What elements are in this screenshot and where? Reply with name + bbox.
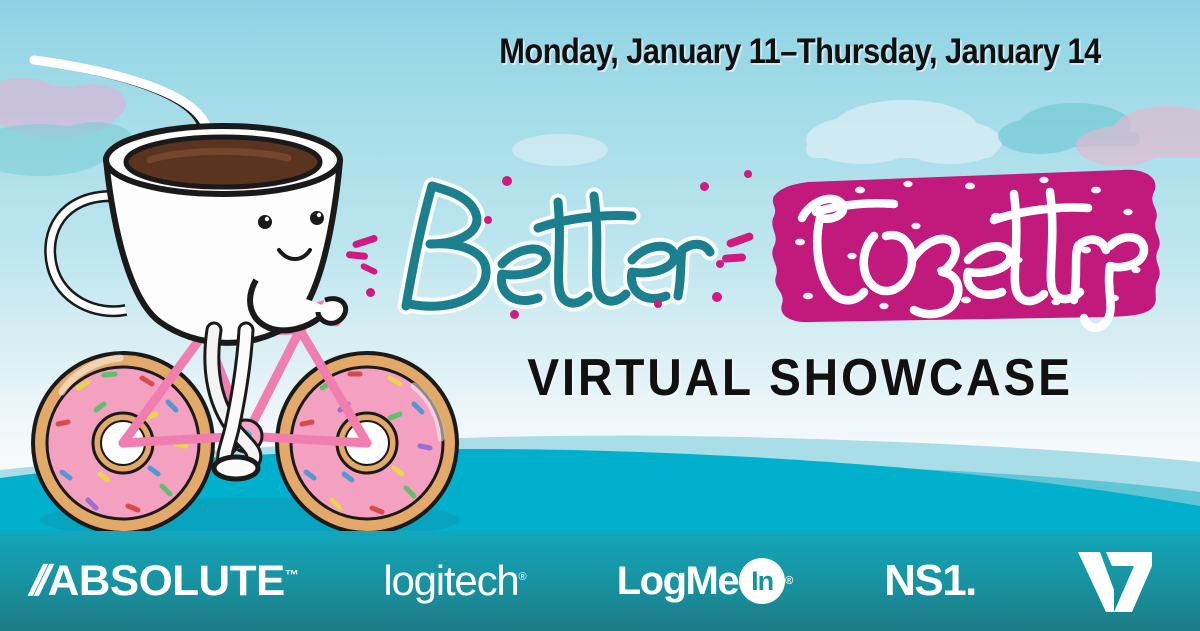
accent-dot — [366, 288, 375, 297]
registered-icon: ® — [785, 575, 793, 587]
sponsor-logo-logmein[interactable]: LogMeIn® — [580, 531, 830, 631]
accent-dot — [700, 182, 709, 191]
accent-dash — [722, 253, 746, 263]
absolute-slash-mark: // — [24, 557, 50, 606]
sponsor-logo-ns1[interactable]: NS1. — [830, 531, 1030, 631]
logmein-in-badge: In — [739, 558, 785, 604]
accent-dot — [744, 170, 752, 178]
subtitle-virtual-showcase: VIRTUAL SHOWCASE — [460, 348, 1141, 408]
registered-icon: ® — [519, 571, 527, 583]
sponsor-logo-bar: //ABSOLUTE™ logitech® LogMeIn® NS1. V7 — [0, 531, 1200, 631]
ns1-wordmark: NS1. — [884, 556, 976, 606]
accent-dash — [346, 251, 369, 260]
logitech-wordmark: logitech — [383, 557, 518, 604]
event-promo-banner: Monday, January 11–Thursday, January 14 … — [0, 0, 1200, 631]
accent-dash — [725, 231, 754, 248]
sponsor-logo-absolute[interactable]: //ABSOLUTE™ — [0, 531, 330, 631]
logmein-wordmark: LogMe — [617, 559, 738, 604]
absolute-wordmark: ABSOLUTE — [47, 557, 284, 605]
accent-dot — [484, 216, 492, 224]
trademark-icon: ™ — [285, 566, 299, 582]
accent-dash — [352, 234, 379, 249]
accent-dot — [654, 300, 662, 308]
headline-together-script: together — [756, 150, 1176, 340]
sponsor-logo-v7[interactable]: V7 — [1030, 531, 1200, 631]
accent-dot — [510, 310, 519, 319]
v7-logo-icon: V7 — [1076, 550, 1154, 612]
sponsor-logo-logitech[interactable]: logitech® — [330, 531, 580, 631]
accent-dot — [502, 176, 512, 186]
accent-dash — [360, 262, 379, 275]
accent-dot — [712, 292, 722, 302]
